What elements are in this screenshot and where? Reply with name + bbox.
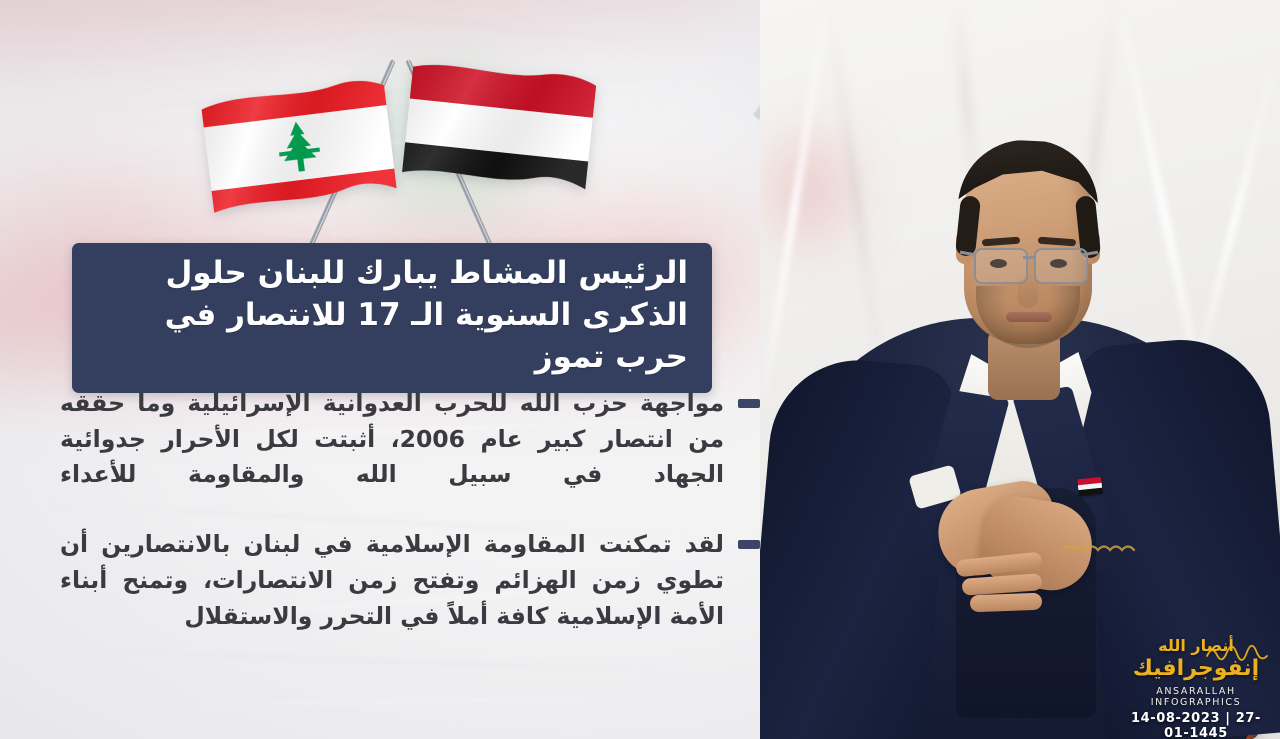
logo-english: ANSARALLAH INFOGRAPHICS (1122, 686, 1270, 708)
mouth (1006, 312, 1052, 322)
portrait-photo (760, 0, 1280, 739)
crossed-flags (205, 62, 595, 262)
yemen-flag-icon (399, 55, 600, 206)
eyeglasses-bridge (1023, 256, 1036, 259)
dash-bullet-icon (738, 540, 760, 549)
finger (970, 593, 1043, 613)
brand-logo: أنصار الله إنفوجرافيك ANSARALLAH INFOGRA… (1122, 638, 1270, 739)
sleeve-embroidery (1060, 540, 1148, 556)
logo-squiggle-icon (1206, 642, 1268, 662)
page-title: الرئيس المشاط يبارك للبنان حلول الذكرى ا… (96, 253, 688, 379)
list-item: لقد تمكنت المقاومة الإسلامية في لبنان با… (60, 527, 760, 634)
logo-date: 14-08-2023 | 27-01-1445 (1122, 711, 1270, 739)
bullet-text: لقد تمكنت المقاومة الإسلامية في لبنان با… (60, 527, 724, 634)
yemen-flag-pin-icon (1077, 477, 1103, 496)
lebanon-flag-icon (198, 71, 401, 225)
bullet-text: مواجهة حزب الله للحرب العدوانية الإسرائي… (60, 386, 724, 493)
dash-bullet-icon (738, 399, 760, 408)
list-item: مواجهة حزب الله للحرب العدوانية الإسرائي… (60, 386, 760, 493)
bullet-list: مواجهة حزب الله للحرب العدوانية الإسرائي… (60, 386, 760, 668)
eyeglasses-lens-right (1034, 248, 1088, 284)
headline-banner: الرئيس المشاط يبارك للبنان حلول الذكرى ا… (72, 243, 712, 393)
infographic-canvas: ” الرئيس المشاط يبارك للبنان حلول الذكرى… (0, 0, 1280, 739)
nose (1018, 274, 1038, 308)
